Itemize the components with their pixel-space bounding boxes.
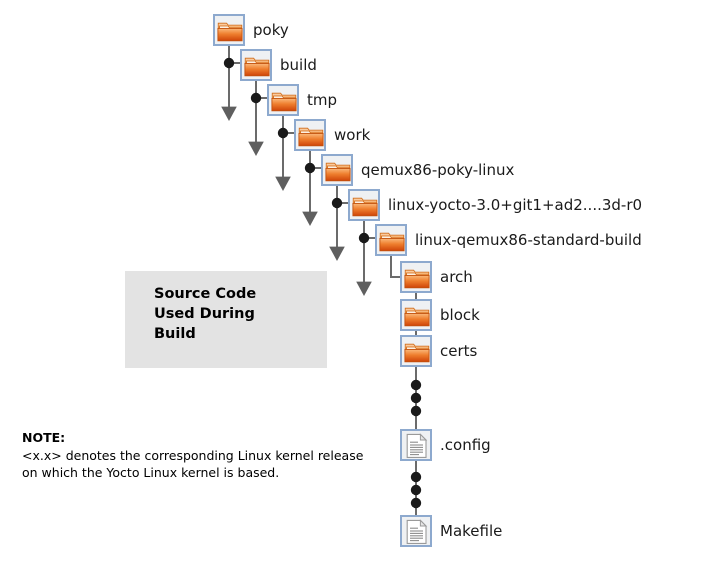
folder-icon[interactable]	[267, 84, 299, 116]
folder-icon[interactable]	[400, 261, 432, 293]
folder-icon[interactable]	[400, 299, 432, 331]
ellipsis-dot	[411, 472, 421, 482]
note-title: NOTE:	[22, 430, 382, 445]
folder-icon	[298, 123, 324, 149]
folder-icon	[404, 339, 430, 365]
folder-icon[interactable]	[321, 154, 353, 186]
ellipsis-dot	[411, 393, 421, 403]
source-code-callout-label: Source Code Used During Build	[154, 284, 256, 344]
node-label: certs	[440, 335, 477, 367]
node-label: poky	[253, 14, 289, 46]
ellipsis-dot	[411, 406, 421, 416]
folder-icon	[404, 265, 430, 291]
ellipsis-dot	[411, 485, 421, 495]
connector-lines	[0, 0, 705, 581]
folder-icon[interactable]	[240, 49, 272, 81]
file-icon	[404, 433, 430, 459]
node-label: work	[334, 119, 370, 151]
folder-icon	[352, 193, 378, 219]
folder-icon	[379, 228, 405, 254]
node-label: .config	[440, 429, 491, 461]
folder-icon	[217, 18, 243, 44]
note-block: NOTE: <x.x> denotes the corresponding Li…	[22, 430, 382, 481]
node-label: linux-yocto-3.0+git1+ad2....3d-r0	[388, 189, 642, 221]
file-icon[interactable]	[400, 515, 432, 547]
node-label: block	[440, 299, 480, 331]
ellipsis-dot	[411, 380, 421, 390]
folder-icon[interactable]	[400, 335, 432, 367]
node-label: qemux86-poky-linux	[361, 154, 514, 186]
node-label: linux-qemux86-standard-build	[415, 224, 642, 256]
folder-icon	[325, 158, 351, 184]
folder-icon	[271, 88, 297, 114]
node-label: tmp	[307, 84, 337, 116]
folder-icon[interactable]	[213, 14, 245, 46]
file-icon	[404, 519, 430, 545]
ellipsis-dot	[411, 498, 421, 508]
folder-icon	[244, 53, 270, 79]
folder-icon[interactable]	[294, 119, 326, 151]
node-label: build	[280, 49, 317, 81]
folder-icon	[404, 303, 430, 329]
note-body: <x.x> denotes the corresponding Linux ke…	[22, 447, 382, 481]
node-label: arch	[440, 261, 473, 293]
node-label: Makefile	[440, 515, 502, 547]
folder-icon[interactable]	[348, 189, 380, 221]
source-code-callout: Source Code Used During Build	[125, 271, 327, 368]
file-icon[interactable]	[400, 429, 432, 461]
diagram-canvas: pokybuildtmpworkqemux86-poky-linuxlinux-…	[0, 0, 705, 581]
folder-icon[interactable]	[375, 224, 407, 256]
